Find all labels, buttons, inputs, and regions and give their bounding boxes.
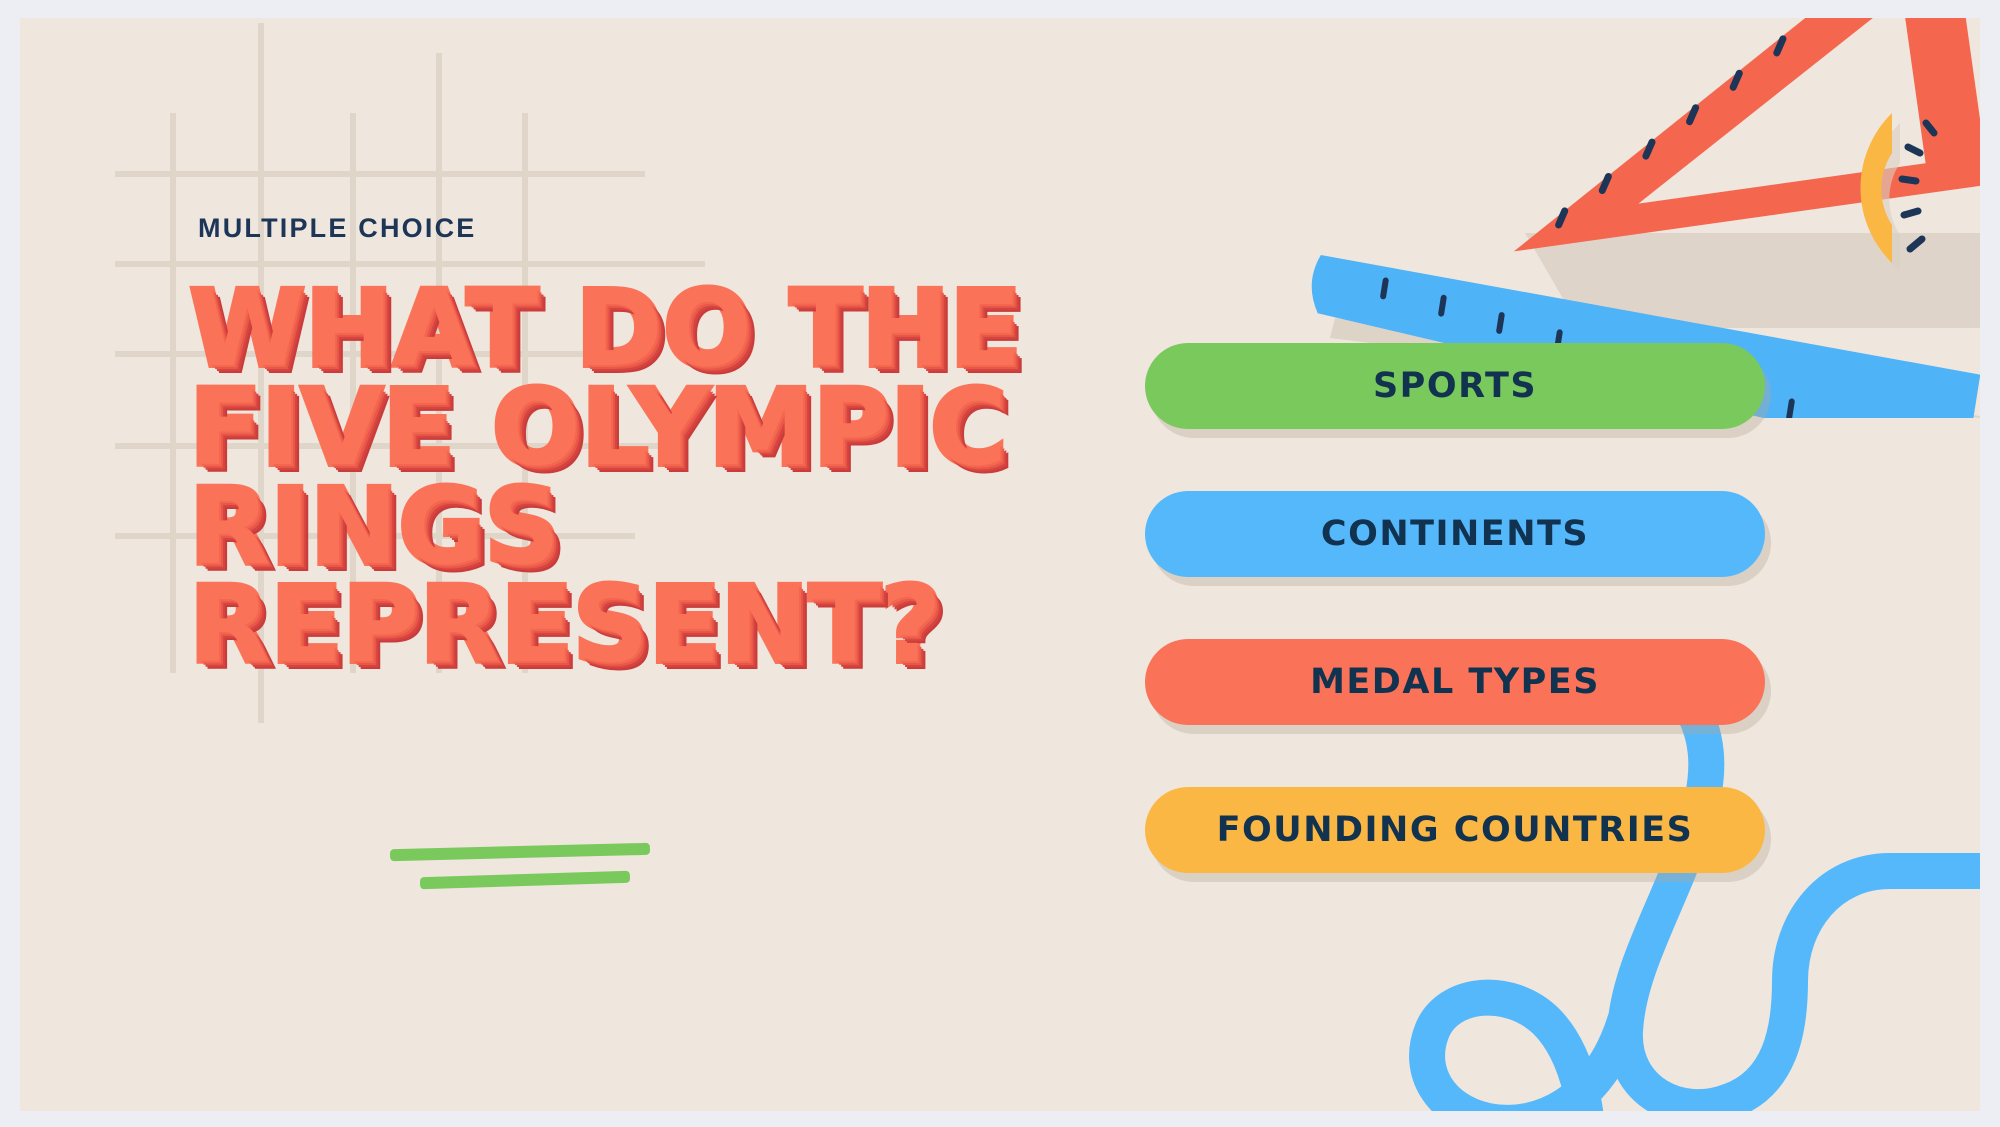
answer-option-continents[interactable]: CONTINENTS <box>1145 491 1765 577</box>
eyebrow-label: MULTIPLE CHOICE <box>198 213 1090 244</box>
answer-option-founding-countries[interactable]: FOUNDING COUNTRIES <box>1145 787 1765 873</box>
answer-option-medal-types[interactable]: MEDAL TYPES <box>1145 639 1765 725</box>
answer-option-label: CONTINENTS <box>1321 514 1589 554</box>
slide-frame: MULTIPLE CHOICE WHAT DO THE FIVE OLYMPIC… <box>20 18 1980 1111</box>
underline-stroke-upper <box>390 843 650 861</box>
answer-option-label: MEDAL TYPES <box>1310 662 1600 702</box>
heading-underline-accent <box>390 838 650 898</box>
answer-option-label: SPORTS <box>1373 366 1537 406</box>
question-line: REPRESENT? <box>190 564 943 686</box>
answer-option-sports[interactable]: SPORTS <box>1145 343 1765 429</box>
page-title: WHAT DO THE FIVE OLYMPIC RINGS REPRESENT… <box>190 280 1090 675</box>
answer-options-list: SPORTS CONTINENTS MEDAL TYPES FOUNDING C… <box>1145 343 1765 935</box>
grid-line-horizontal <box>115 171 645 177</box>
question-block: MULTIPLE CHOICE WHAT DO THE FIVE OLYMPIC… <box>190 213 1090 675</box>
underline-stroke-lower <box>420 871 630 890</box>
grid-line-vertical <box>170 113 176 673</box>
answer-option-label: FOUNDING COUNTRIES <box>1217 810 1694 850</box>
